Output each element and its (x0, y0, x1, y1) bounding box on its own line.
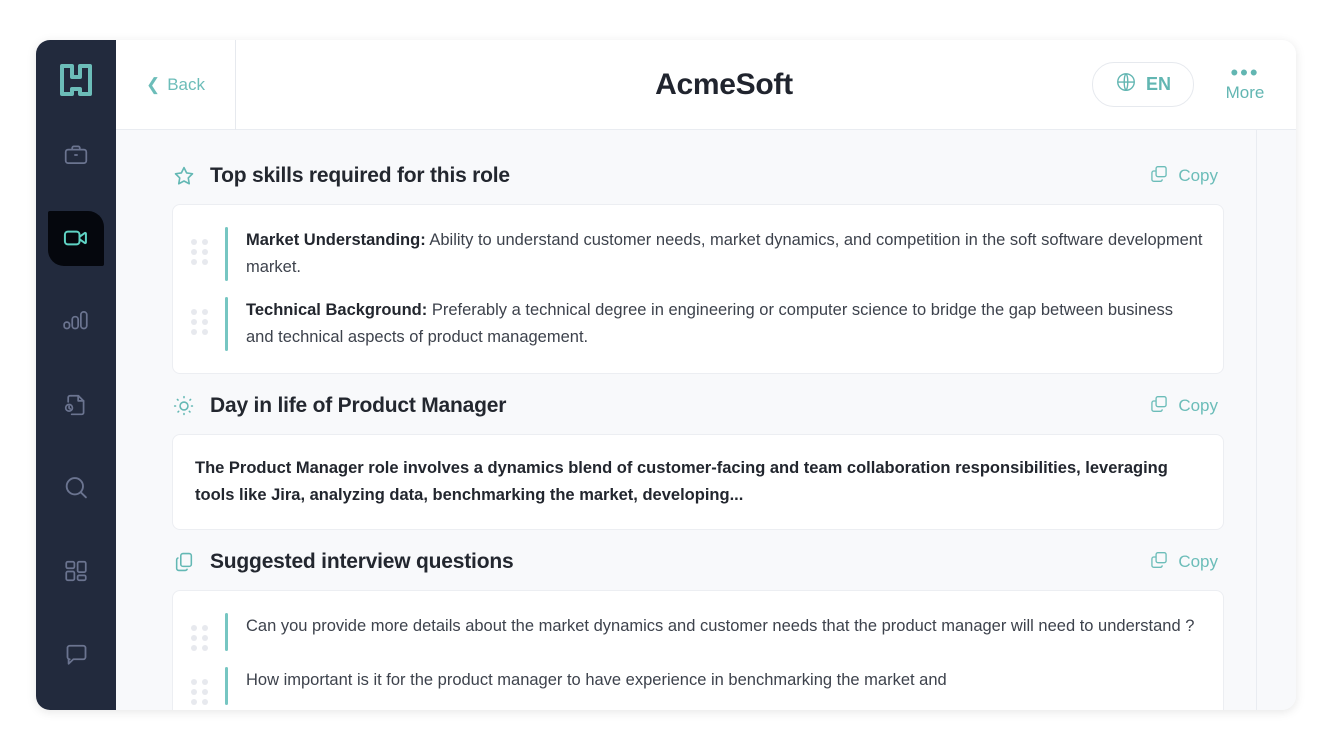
copy-button-questions[interactable]: Copy (1149, 550, 1224, 575)
sidebar-item-interviews[interactable] (48, 211, 104, 266)
drag-handle-icon[interactable] (191, 309, 219, 335)
questions-card: Can you provide more details about the m… (172, 590, 1224, 710)
list-item-text: How important is it for the product mana… (246, 667, 1205, 694)
item-accent-bar (225, 667, 228, 705)
document-history-icon (63, 392, 89, 418)
chat-icon (63, 641, 90, 668)
section-top-skills: Top skills required for this role Copy (172, 148, 1224, 374)
star-icon (172, 164, 196, 188)
list-item[interactable]: Can you provide more details about the m… (191, 605, 1205, 659)
copy-label: Copy (1178, 396, 1218, 416)
header-actions: EN ••• More (1092, 62, 1296, 107)
item-accent-bar (225, 613, 228, 651)
list-item[interactable]: How important is it for the product mana… (191, 659, 1205, 710)
sidebar-item-search[interactable] (48, 460, 104, 515)
sidebar-item-documents[interactable] (48, 377, 104, 432)
section-title: Suggested interview questions (210, 550, 1135, 574)
app-logo[interactable] (54, 58, 98, 101)
list-item-text: Market Understanding: Ability to underst… (246, 227, 1205, 281)
item-accent-bar (225, 297, 228, 351)
list-item-bold: Technical Background: (246, 301, 427, 319)
drag-handle-icon[interactable] (191, 239, 219, 265)
section-title: Top skills required for this role (210, 164, 1135, 188)
bar-chart-icon (62, 307, 90, 335)
copy-icon (1149, 394, 1169, 419)
back-button[interactable]: ❮ Back (116, 40, 236, 130)
list-item-text: Can you provide more details about the m… (246, 613, 1205, 640)
copy-pages-icon (172, 550, 196, 574)
main-area: ❮ Back AcmeSoft EN (116, 40, 1296, 710)
item-accent-bar (225, 227, 228, 281)
list-item-bold: Market Understanding: (246, 231, 426, 249)
section-interview-questions: Suggested interview questions Copy (172, 534, 1224, 710)
more-button[interactable]: ••• More (1214, 66, 1276, 103)
chevron-left-icon: ❮ (146, 76, 160, 93)
app-header: ❮ Back AcmeSoft EN (116, 40, 1296, 130)
language-selector[interactable]: EN (1092, 62, 1194, 107)
globe-icon (1115, 71, 1137, 98)
sidebar-item-analytics[interactable] (48, 294, 104, 349)
briefcase-icon (63, 142, 89, 168)
screenshot-root: ❮ Back AcmeSoft EN (0, 0, 1332, 747)
list-item-text: Technical Background: Preferably a techn… (246, 297, 1205, 351)
copy-label: Copy (1178, 166, 1218, 186)
body-wrap: Top skills required for this role Copy (116, 130, 1296, 710)
drag-handle-icon[interactable] (191, 679, 219, 705)
drag-handle-icon[interactable] (191, 625, 219, 651)
sidebar-item-jobs[interactable] (48, 127, 104, 182)
section-header: Suggested interview questions Copy (172, 534, 1224, 590)
copy-button-top-skills[interactable]: Copy (1149, 164, 1224, 189)
more-label: More (1226, 83, 1265, 103)
day-in-life-card: The Product Manager role involves a dyna… (172, 434, 1224, 530)
app-window: ❮ Back AcmeSoft EN (36, 40, 1296, 710)
more-dots-icon: ••• (1230, 66, 1259, 79)
grid-icon (63, 558, 89, 584)
sidebar-item-apps[interactable] (48, 544, 104, 599)
list-item[interactable]: Technical Background: Preferably a techn… (191, 289, 1205, 359)
copy-icon (1149, 164, 1169, 189)
right-rail (1256, 130, 1296, 710)
scroll-content[interactable]: Top skills required for this role Copy (116, 130, 1256, 710)
back-label: Back (167, 75, 205, 95)
copy-button-day-in-life[interactable]: Copy (1149, 394, 1224, 419)
sun-icon (172, 394, 196, 418)
copy-label: Copy (1178, 552, 1218, 572)
search-icon (62, 474, 90, 502)
section-header: Day in life of Product Manager Copy (172, 378, 1224, 434)
video-icon (62, 224, 90, 252)
list-item[interactable]: Market Understanding: Ability to underst… (191, 219, 1205, 289)
page-title: AcmeSoft (236, 68, 1092, 102)
copy-icon (1149, 550, 1169, 575)
sidebar-item-messages[interactable] (48, 627, 104, 682)
top-skills-card: Market Understanding: Ability to underst… (172, 204, 1224, 374)
sidebar (36, 40, 116, 710)
section-header: Top skills required for this role Copy (172, 148, 1224, 204)
section-title: Day in life of Product Manager (210, 394, 1135, 418)
section-day-in-life: Day in life of Product Manager Copy (172, 378, 1224, 530)
day-in-life-paragraph: The Product Manager role involves a dyna… (195, 455, 1201, 509)
language-label: EN (1146, 74, 1171, 95)
